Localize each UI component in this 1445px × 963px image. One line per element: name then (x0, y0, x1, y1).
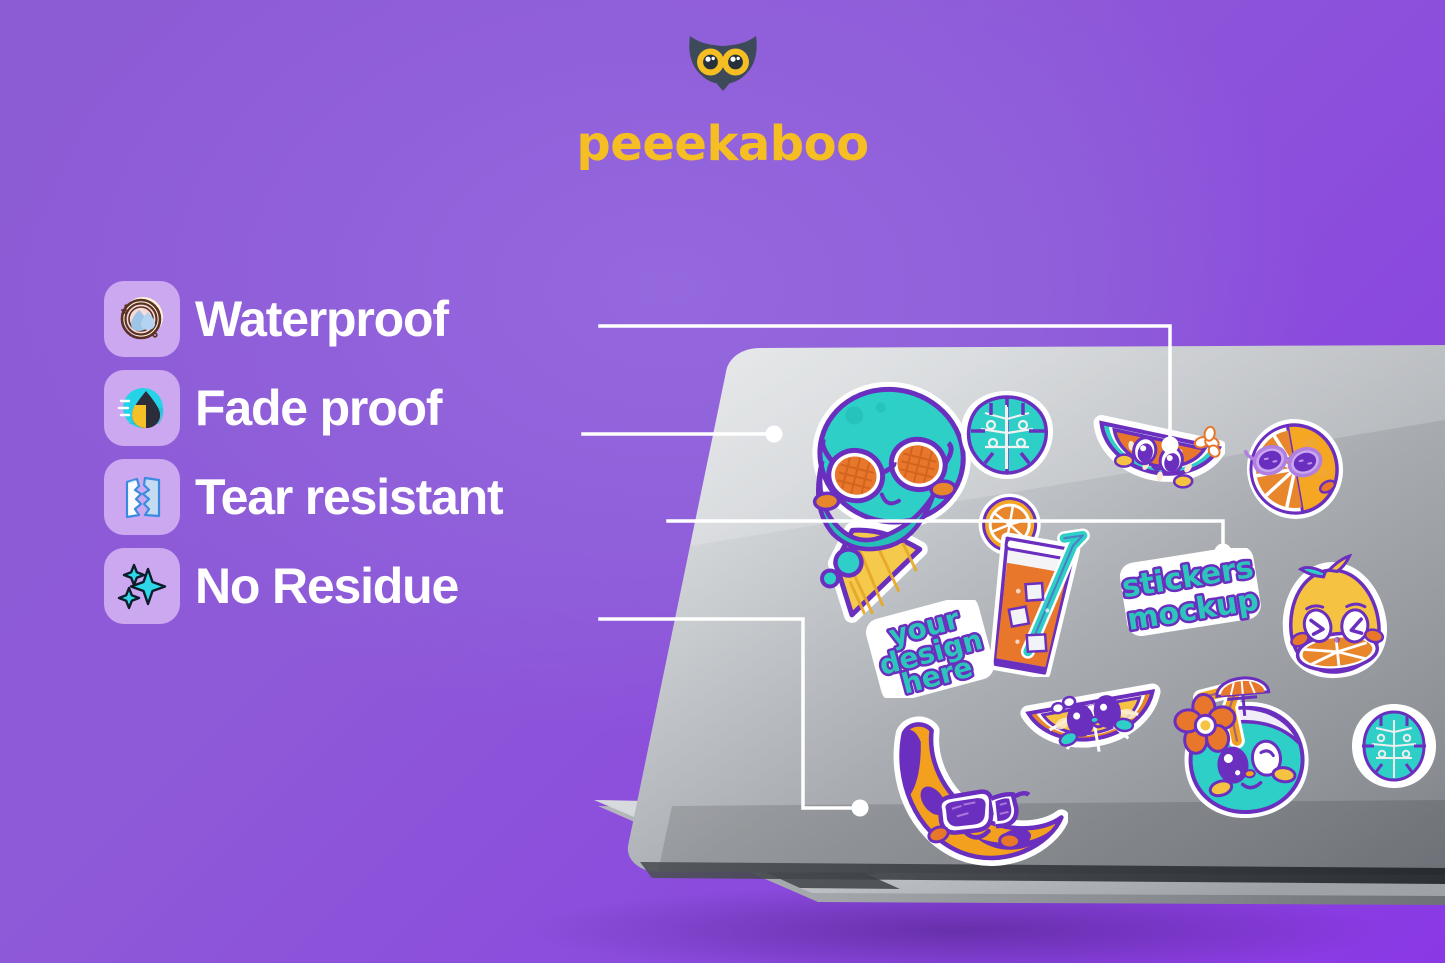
feature-item-no-residue[interactable]: No Residue (104, 548, 502, 624)
coconut-drink-sticker[interactable] (1165, 660, 1325, 825)
feature-icon-chip (104, 281, 180, 357)
water-drops-circle-icon (115, 292, 169, 346)
torn-paper-icon (115, 470, 169, 524)
feature-list: Waterproof Fade proof (104, 281, 502, 624)
feature-item-waterproof[interactable]: Waterproof (104, 281, 502, 357)
stickers-mockup-sticker[interactable]: stickers mockup (1118, 548, 1263, 636)
promo-banner: peeekaboo (0, 0, 1445, 963)
feature-label: Waterproof (195, 294, 448, 344)
watermelon-slice-sticker[interactable] (1085, 405, 1225, 515)
orange-slice-face-sticker[interactable] (1020, 672, 1170, 784)
feature-icon-chip (104, 548, 180, 624)
feature-icon-chip (104, 459, 180, 535)
feature-label: Fade proof (195, 383, 441, 433)
ink-drop-fade-icon (115, 381, 169, 435)
monstera-leaf-small-sticker[interactable] (1348, 700, 1440, 792)
feature-icon-chip (104, 370, 180, 446)
monstera-leaf-sticker[interactable] (955, 385, 1060, 485)
sparkles-icon (115, 559, 169, 613)
feature-label: Tear resistant (195, 472, 502, 522)
feature-item-tear-resistant[interactable]: Tear resistant (104, 459, 502, 535)
feature-item-fade-proof[interactable]: Fade proof (104, 370, 502, 446)
orange-sunglasses-sticker[interactable] (1240, 412, 1350, 527)
feature-label: No Residue (195, 561, 458, 611)
your-design-here-sticker[interactable]: your design here (866, 600, 994, 698)
